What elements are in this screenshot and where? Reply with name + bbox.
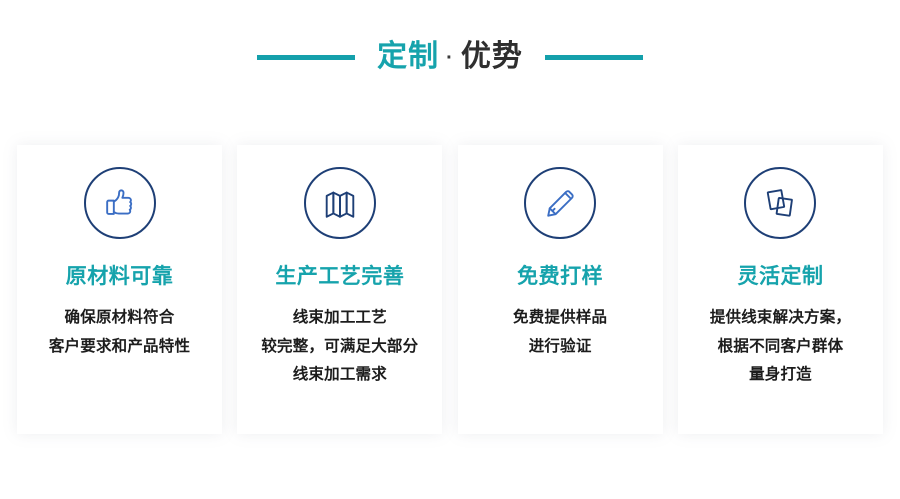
- card-description-line: 量身打造: [710, 361, 851, 390]
- card-description-line: 较完整，可满足大部分: [261, 333, 418, 362]
- card-description-line: 客户要求和产品特性: [49, 333, 190, 362]
- icon-ring: [304, 167, 376, 239]
- page-title-primary: 定制: [377, 42, 439, 72]
- advantage-card[interactable]: 原材料可靠 确保原材料符合 客户要求和产品特性: [17, 145, 222, 434]
- pencil-icon: [541, 184, 579, 222]
- card-description: 免费提供样品 进行验证: [507, 304, 613, 361]
- card-description-line: 进行验证: [513, 333, 607, 362]
- advantage-card-list: 原材料可靠 确保原材料符合 客户要求和产品特性 生产工艺完善 线束加工工艺 较完…: [17, 145, 883, 434]
- heading-rule-right: [545, 55, 643, 60]
- icon-ring: [744, 167, 816, 239]
- icon-ring: [524, 167, 596, 239]
- folded-map-icon: [321, 184, 359, 222]
- page-title: 定制 · 优势: [377, 42, 523, 72]
- card-description-line: 根据不同客户群体: [710, 333, 851, 362]
- card-description: 线束加工工艺 较完整，可满足大部分 线束加工需求: [255, 304, 424, 390]
- section-header: 定制 · 优势: [0, 26, 900, 88]
- card-description: 提供线束解决方案， 根据不同客户群体 量身打造: [704, 304, 857, 390]
- card-title: 灵活定制: [737, 265, 823, 288]
- stacked-sheets-icon: [761, 184, 799, 222]
- card-title: 免费打样: [517, 265, 603, 288]
- card-title: 原材料可靠: [66, 265, 174, 288]
- advantage-card[interactable]: 免费打样 免费提供样品 进行验证: [458, 145, 663, 434]
- icon-ring: [84, 167, 156, 239]
- advantage-card[interactable]: 生产工艺完善 线束加工工艺 较完整，可满足大部分 线束加工需求: [237, 145, 442, 434]
- thumbs-up-icon: [101, 184, 139, 222]
- card-description-line: 提供线束解决方案，: [710, 304, 851, 333]
- heading-rule-left: [257, 55, 355, 60]
- card-description-line: 线束加工需求: [261, 361, 418, 390]
- card-description-line: 线束加工工艺: [261, 304, 418, 333]
- card-description: 确保原材料符合 客户要求和产品特性: [43, 304, 196, 361]
- card-description-line: 确保原材料符合: [49, 304, 190, 333]
- advantage-card[interactable]: 灵活定制 提供线束解决方案， 根据不同客户群体 量身打造: [678, 145, 883, 434]
- page-title-secondary: 优势: [461, 42, 523, 72]
- card-description-line: 免费提供样品: [513, 304, 607, 333]
- page-title-separator: ·: [439, 48, 461, 68]
- card-title: 生产工艺完善: [275, 265, 404, 288]
